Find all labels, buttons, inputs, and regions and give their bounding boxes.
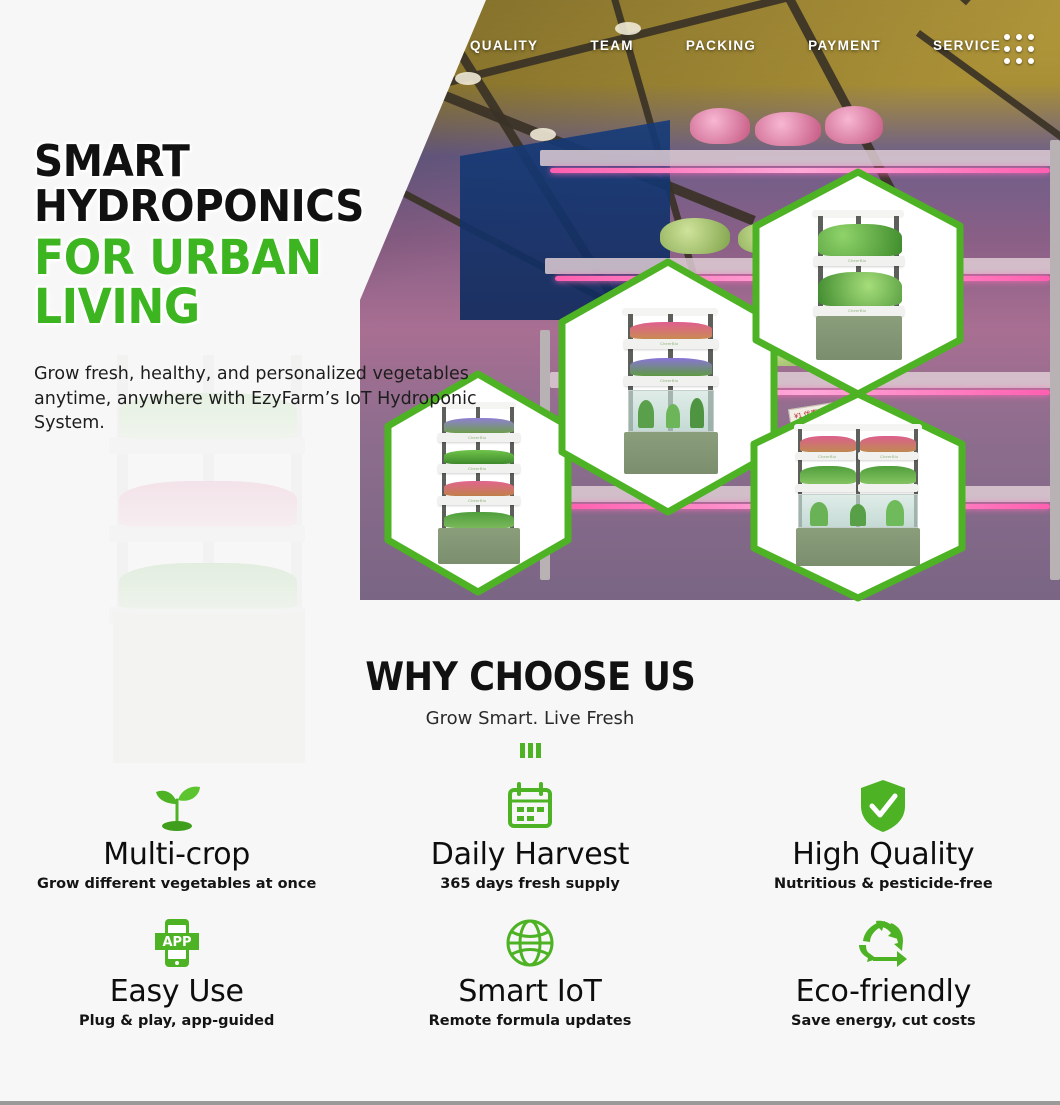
feature-desc: Save energy, cut costs (725, 1012, 1042, 1030)
feature-desc: 365 days fresh supply (371, 875, 688, 893)
sprout-icon (18, 778, 335, 834)
svg-text:APP: APP (162, 935, 191, 950)
feature-title: Smart IoT (371, 975, 688, 1008)
feature-desc: Plug & play, app-guided (18, 1012, 335, 1030)
feature-desc: Nutritious & pesticide-free (725, 875, 1042, 893)
divider-bars-icon (0, 743, 1060, 758)
calendar-icon (371, 778, 688, 834)
hero-title-line-2: FOR URBAN LIVING (34, 234, 476, 332)
feature-card-easy-use: APP Easy Use Plug & play, app-guided (0, 915, 353, 1030)
hexagon-product-bottom-right[interactable]: CheerBio CheerBio (744, 388, 972, 604)
hexagon-product-top-right[interactable]: CheerBio CheerBio (746, 166, 970, 400)
why-choose-us-subtitle: Grow Smart. Live Fresh (0, 708, 1060, 729)
feature-desc: Remote formula updates (371, 1012, 688, 1030)
globe-icon (371, 915, 688, 971)
nav-item-team[interactable]: TEAM (590, 38, 633, 53)
feature-card-multi-crop: Multi-crop Grow different vegetables at … (0, 778, 353, 893)
product-tower-2tier: CheerBio CheerBio (804, 210, 912, 360)
product-aquaponics-unit: CheerBio CheerBio (614, 308, 726, 474)
product-double-unit: CheerBio CheerBio (788, 424, 928, 566)
shield-check-icon (725, 778, 1042, 834)
feature-title: Eco-friendly (725, 975, 1042, 1008)
hero-text-block: SMART HYDROPONICS FOR URBAN LIVING Grow … (34, 140, 514, 436)
landing-page: Auto CheerB CheerB (0, 0, 1060, 1105)
nav-item-service[interactable]: SERVICE (933, 38, 1001, 53)
feature-title: Daily Harvest (371, 838, 688, 871)
feature-card-eco-friendly: Eco-friendly Save energy, cut costs (707, 915, 1060, 1030)
app-phone-icon: APP (18, 915, 335, 971)
top-navigation: QUALITY TEAM PACKING PAYMENT SERVICE (470, 38, 1001, 53)
why-choose-us-title: WHY CHOOSE US (365, 655, 695, 700)
booth-sign-text: Auto (360, 0, 419, 31)
feature-card-smart-iot: Smart IoT Remote formula updates (353, 915, 706, 1030)
hero-subtitle: Grow fresh, healthy, and personalized ve… (34, 362, 489, 437)
features-grid: Multi-crop Grow different vegetables at … (0, 778, 1060, 1030)
hero-title-line-1: SMART HYDROPONICS (34, 140, 476, 230)
nav-item-packing[interactable]: PACKING (686, 38, 756, 53)
recycle-icon (725, 915, 1042, 971)
feature-desc: Grow different vegetables at once (18, 875, 335, 893)
feature-title: Multi-crop (18, 838, 335, 871)
nav-item-payment[interactable]: PAYMENT (808, 38, 881, 53)
feature-title: Easy Use (18, 975, 335, 1008)
nav-item-quality[interactable]: QUALITY (470, 38, 538, 53)
feature-card-high-quality: High Quality Nutritious & pesticide-free (707, 778, 1060, 893)
feature-title: High Quality (725, 838, 1042, 871)
why-choose-us-section: WHY CHOOSE US Grow Smart. Live Fresh (0, 655, 1060, 758)
feature-card-daily-harvest: Daily Harvest 365 days fresh supply (353, 778, 706, 893)
grid-dots-icon[interactable] (1004, 34, 1034, 64)
